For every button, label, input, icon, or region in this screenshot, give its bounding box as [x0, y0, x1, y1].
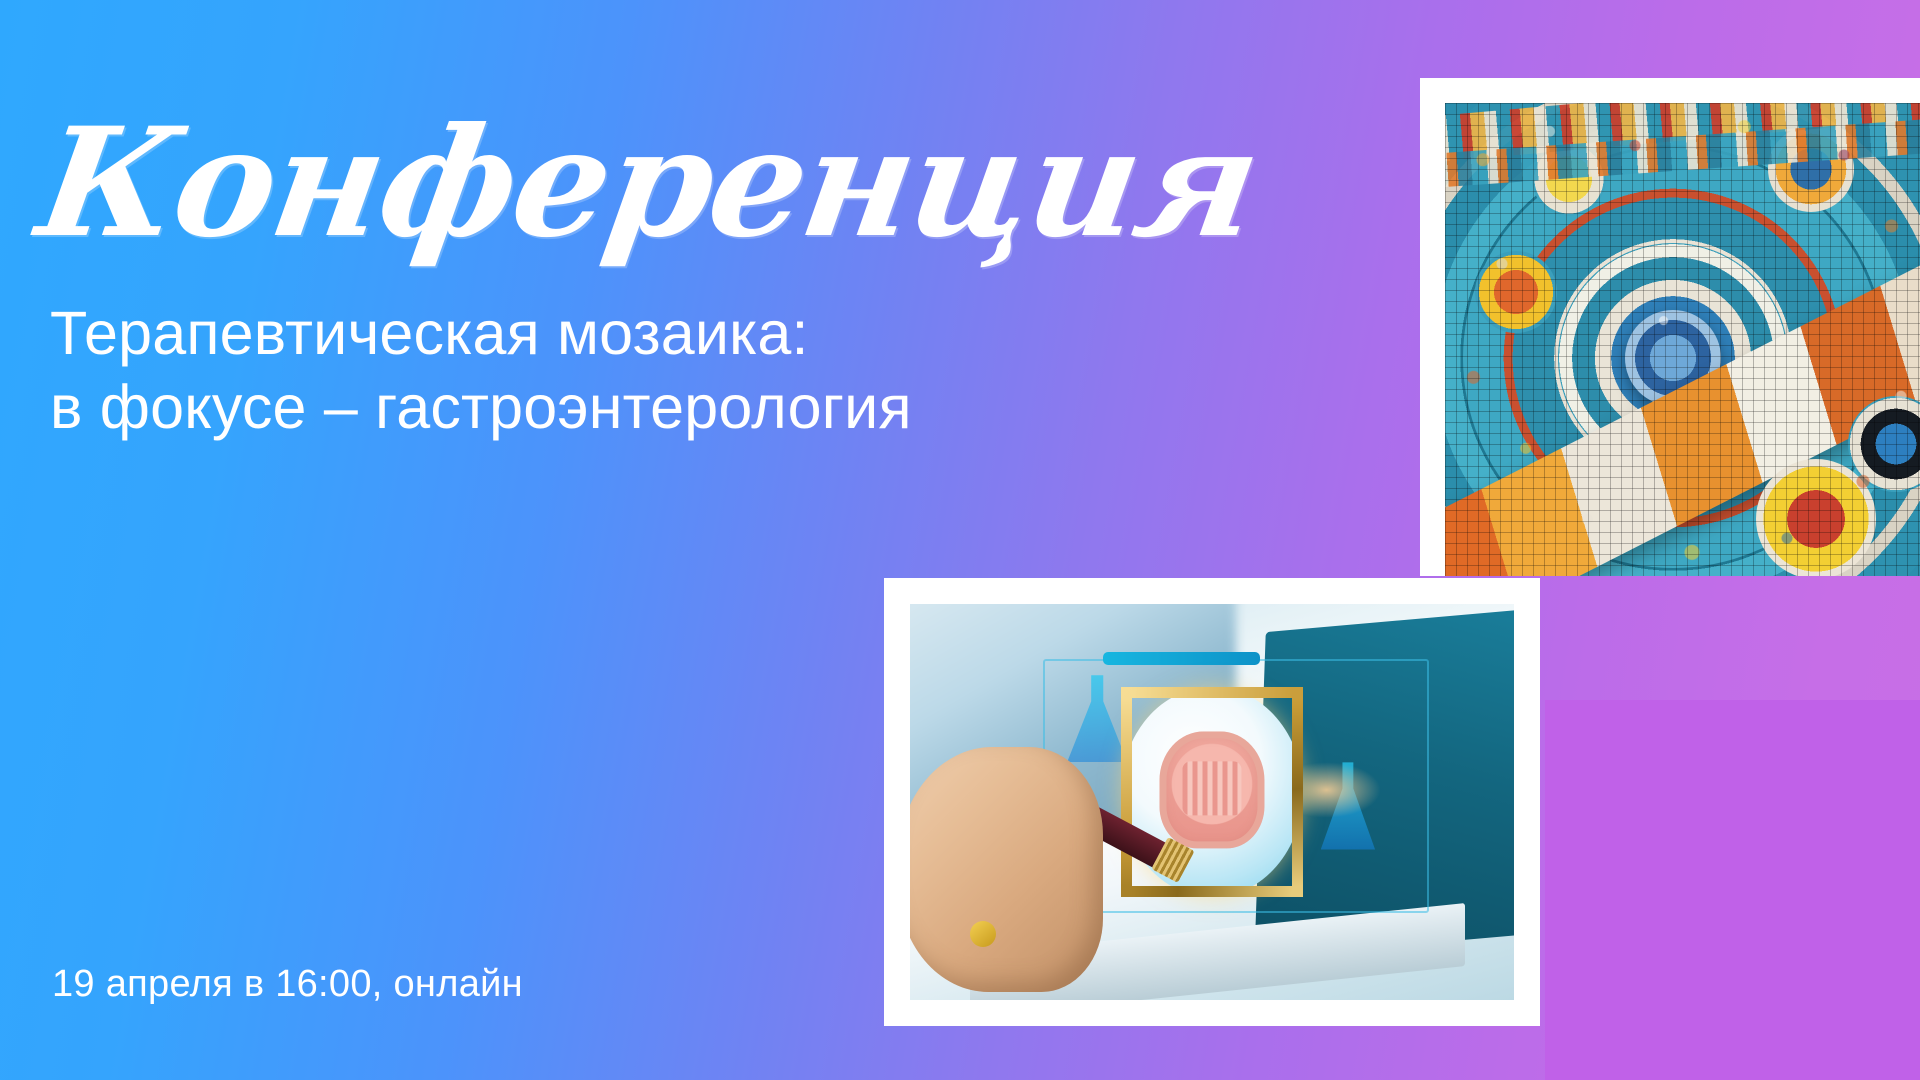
- gastroenterology-illustration: [910, 604, 1514, 1000]
- finger-ring: [970, 921, 996, 947]
- page-title: Конференция: [30, 108, 1267, 258]
- mosaic-artwork-photo: [1445, 103, 1920, 576]
- magnifier-lens: [1121, 687, 1302, 897]
- purple-accent-block: [1545, 700, 1920, 1080]
- subtitle: Терапевтическая мозаика: в фокусе – гаст…: [50, 296, 1170, 445]
- gastroenterology-photo: [910, 604, 1514, 1000]
- intestine-illustration: [1159, 732, 1264, 848]
- mosaic-artwork-illustration: [1445, 103, 1920, 576]
- event-datetime: 19 апреля в 16:00, онлайн: [52, 963, 523, 1006]
- hud-bar-chart-right: [1333, 667, 1399, 722]
- doctor-hand: [910, 747, 1103, 993]
- gastroenterology-photo-card: [884, 578, 1540, 1026]
- hud-bar-chart-bottom: [1291, 834, 1388, 882]
- hud-top-bar: [1103, 652, 1260, 665]
- conference-banner: Конференция Терапевтическая мозаика: в ф…: [0, 0, 1920, 1080]
- mosaic-photo-card: [1420, 78, 1920, 576]
- mosaic-medallion-orange: [1475, 251, 1557, 333]
- mosaic-medallion-yellow: [1756, 459, 1876, 576]
